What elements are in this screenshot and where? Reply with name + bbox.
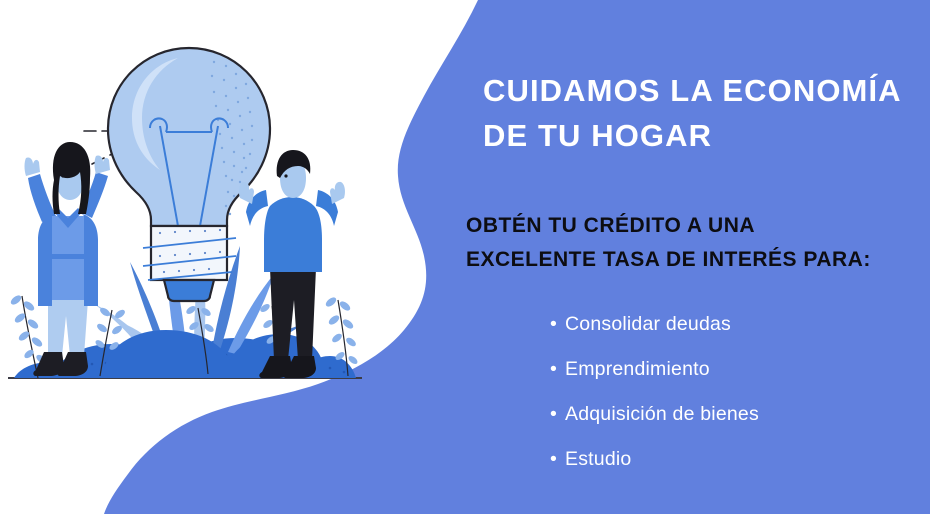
promo-slide: CUIDAMOS LA ECONOMÍA DE TU HOGAR OBTÉN T… xyxy=(0,0,930,514)
list-item: •Emprendimiento xyxy=(550,355,930,400)
headline-line-1: CUIDAMOS LA ECONOMÍA xyxy=(483,69,923,114)
bullet-marker-icon: • xyxy=(550,355,565,383)
man-fist-right xyxy=(330,182,345,204)
headline-line-2: DE TU HOGAR xyxy=(483,114,923,159)
benefits-list: •Consolidar deudas •Emprendimiento •Adqu… xyxy=(550,310,930,490)
woman-hand-left xyxy=(25,157,41,176)
bullet-marker-icon: • xyxy=(550,400,565,428)
bullet-marker-icon: • xyxy=(550,310,565,338)
list-item-label: Adquisición de bienes xyxy=(565,403,759,425)
man-fist-left xyxy=(239,182,254,204)
subheading-line-1: OBTÉN TU CRÉDITO A UNA xyxy=(466,209,926,243)
bulb-cap xyxy=(164,280,214,301)
subheading: OBTÉN TU CRÉDITO A UNA EXCELENTE TASA DE… xyxy=(466,209,926,277)
bulb-base xyxy=(151,226,227,280)
list-item-label: Estudio xyxy=(565,448,631,470)
lightbulb-icon xyxy=(108,48,270,301)
lightbulb-idea-people-illustration xyxy=(0,0,400,400)
woman-legs xyxy=(48,300,88,356)
man-shirt xyxy=(264,197,322,272)
list-item: •Adquisición de bienes xyxy=(550,400,930,445)
list-item: •Estudio xyxy=(550,445,930,490)
page-title: CUIDAMOS LA ECONOMÍA DE TU HOGAR xyxy=(483,69,923,159)
subheading-line-2: EXCELENTE TASA DE INTERÉS PARA: xyxy=(466,243,926,277)
list-item: •Consolidar deudas xyxy=(550,310,930,355)
bullet-marker-icon: • xyxy=(550,445,565,473)
list-item-label: Emprendimiento xyxy=(565,358,710,380)
text-column: CUIDAMOS LA ECONOMÍA DE TU HOGAR OBTÉN T… xyxy=(466,0,930,514)
list-item-label: Consolidar deudas xyxy=(565,313,731,335)
